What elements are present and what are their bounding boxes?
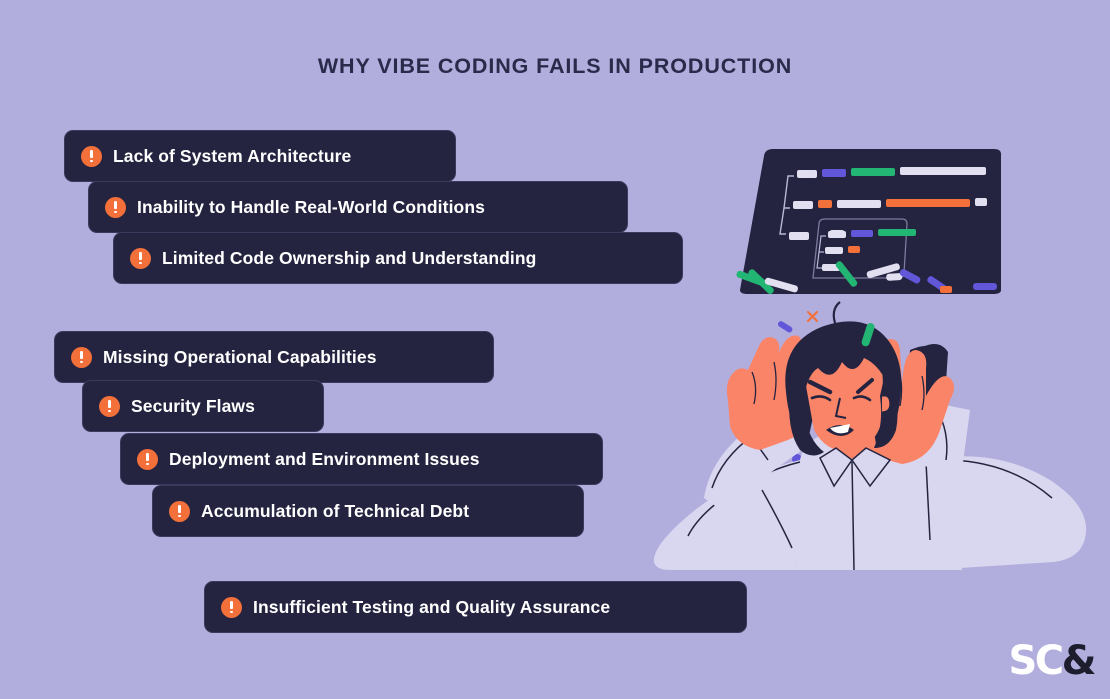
frustrated-person-illustration [640,300,1090,570]
brand-logo-primary: SC [1008,638,1061,684]
issue-card-accumulation-of-technical-debt[interactable]: Accumulation of Technical Debt [152,485,584,537]
issue-card-lack-of-system-architecture[interactable]: Lack of System Architecture [64,130,456,182]
issue-card-label: Insufficient Testing and Quality Assuran… [253,597,610,618]
warning-circle-icon [71,347,92,368]
issue-card-label: Accumulation of Technical Debt [201,501,469,522]
issue-card-label: Deployment and Environment Issues [169,449,480,470]
warning-circle-icon [221,597,242,618]
issue-card-label: Limited Code Ownership and Understanding [162,248,536,269]
issue-card-security-flaws[interactable]: Security Flaws [82,380,324,432]
warning-circle-icon [137,449,158,470]
issue-card-label: Security Flaws [131,396,255,417]
issue-card-label: Inability to Handle Real-World Condition… [137,197,485,218]
brand-logo-secondary: & [1062,638,1094,684]
laptop-with-code-illustration [718,138,1018,308]
warning-circle-icon [81,146,102,167]
page-title: WHY VIBE CODING FAILS IN PRODUCTION [0,54,1110,79]
issue-card-limited-code-ownership-and-understanding[interactable]: Limited Code Ownership and Understanding [113,232,683,284]
warning-circle-icon [105,197,126,218]
issue-card-insufficient-testing-and-quality-assurance[interactable]: Insufficient Testing and Quality Assuran… [204,581,747,633]
issue-card-deployment-and-environment-issues[interactable]: Deployment and Environment Issues [120,433,603,485]
warning-circle-icon [169,501,190,522]
warning-circle-icon [130,248,151,269]
brand-logo: SC& [1008,641,1094,681]
infographic-root: WHY VIBE CODING FAILS IN PRODUCTION [0,0,1110,699]
issue-card-inability-to-handle-real-world-conditions[interactable]: Inability to Handle Real-World Condition… [88,181,628,233]
issue-card-label: Missing Operational Capabilities [103,347,377,368]
issue-card-label: Lack of System Architecture [113,146,351,167]
issue-card-missing-operational-capabilities[interactable]: Missing Operational Capabilities [54,331,494,383]
warning-circle-icon [99,396,120,417]
